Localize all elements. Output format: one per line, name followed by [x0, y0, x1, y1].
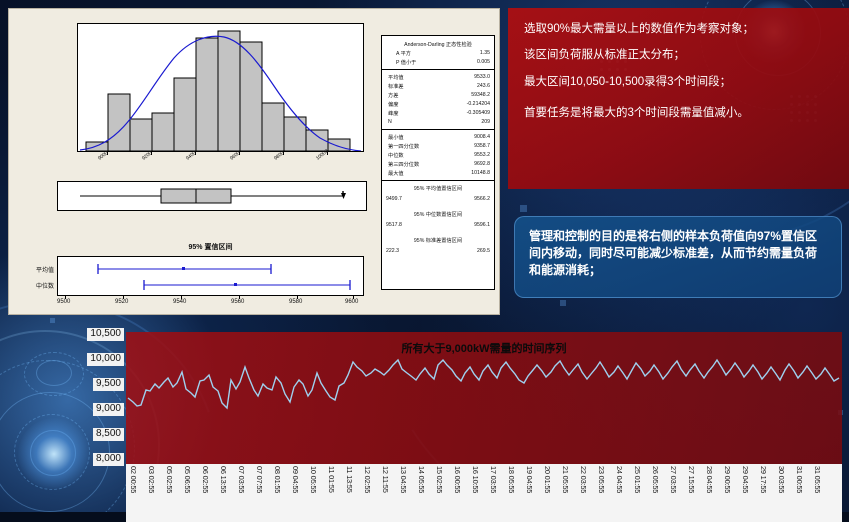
- decor-square: [520, 205, 527, 212]
- mean-value: 9533.0: [474, 74, 490, 80]
- ci-svg: [58, 257, 363, 295]
- ytick-label: 10,000: [87, 353, 124, 366]
- ci-xtick-label: 9600: [345, 299, 358, 305]
- xtick-label: 9000: [97, 150, 109, 162]
- xtick-label: 27 15:55: [687, 466, 696, 493]
- n-value: 209: [481, 119, 490, 125]
- histogram-xaxis: 9000 9200 9400 9600 9800 10000: [77, 152, 364, 174]
- ci-xtick-label: 9560: [231, 299, 244, 305]
- xtick-label: 05 02:55: [165, 466, 174, 493]
- xtick-label: 06 13:55: [219, 466, 228, 493]
- xtick-label: 05 06:55: [183, 466, 192, 493]
- xtick-label: 10 05:55: [309, 466, 318, 493]
- ytick-label: 8,000: [93, 453, 124, 466]
- ytick-label: 10,500: [87, 328, 124, 341]
- red-callout-line-4: 首要任务是将最大的3个时间段需量值减小。: [524, 106, 837, 120]
- ci-mean-title-text: 95% 平均值置信区间: [382, 185, 494, 192]
- xtick-label: 27 03:55: [669, 466, 678, 493]
- xtick-label: 12 11:55: [381, 466, 390, 493]
- ad-a2-label: A 平方: [396, 50, 411, 57]
- ad-a2-value: 1.35: [480, 50, 490, 56]
- ytick-label: 9,000: [93, 403, 124, 416]
- q1-label: 第一四分位数: [388, 143, 419, 150]
- ci-xtick-label: 9580: [289, 299, 302, 305]
- time-series-section: 10,500 10,000 9,500 9,000 8,500 8,000 所有…: [0, 322, 849, 512]
- xtick-label: 13 04:55: [399, 466, 408, 493]
- ci-mean-high: 9566.2: [474, 196, 490, 202]
- time-series-plot: 所有大于9,000kW需量的时间序列: [126, 332, 842, 464]
- kurtosis-value: -0.305409: [467, 110, 490, 116]
- ci-mean-low: 9499.7: [386, 196, 402, 202]
- boxplot-panel: [57, 181, 367, 211]
- confidence-interval-panel: [57, 256, 364, 296]
- variance-value: 59348.2: [471, 92, 490, 98]
- skewness-value: -0.214204: [467, 101, 490, 107]
- xtick-label: 9800: [273, 150, 285, 162]
- ci-panel-title: 95% 置信区间: [57, 242, 364, 252]
- box-q1-median: [161, 189, 196, 203]
- xtick-label: 20 01:55: [543, 466, 552, 493]
- max-label: 最大值: [388, 170, 404, 177]
- ad-p-value: 0.005: [477, 59, 490, 65]
- ad-p-label: P 值小于: [396, 59, 416, 66]
- stdev-label: 标准差: [388, 83, 404, 90]
- q1-value: 9358.7: [474, 143, 490, 149]
- minitab-report-card: 9000 9200 9400 9600 9800 10000 95% 置信区间: [8, 8, 500, 315]
- ci-stdev-low: 222.3: [386, 248, 399, 254]
- xtick-label: 23 05:55: [597, 466, 606, 493]
- red-callout-line-3: 最大区间10,050-10,500录得3个时间段；: [524, 75, 837, 89]
- ci-xtick-label: 9520: [115, 299, 128, 305]
- ci-median-low: 9517.8: [386, 222, 402, 228]
- median-label: 中位数: [388, 152, 404, 159]
- ytick-label: 8,500: [93, 428, 124, 441]
- histogram-svg: [78, 24, 363, 151]
- xtick-label: 31 00:55: [795, 466, 804, 493]
- variance-label: 方差: [388, 92, 398, 99]
- xtick-label: 18 05:55: [507, 466, 516, 493]
- xtick-label: 11 13:55: [345, 466, 354, 493]
- xtick-label: 30 03:55: [777, 466, 786, 493]
- xtick-label: 29 00:55: [723, 466, 732, 493]
- xtick-label: 11 01:55: [327, 466, 336, 493]
- xtick-label: 31 05:55: [813, 466, 822, 493]
- xtick-label: 14 05:55: [417, 466, 426, 493]
- time-series-xaxis: 02 00:55 03 02:55 05 02:55 05 06:55 06 0…: [126, 464, 842, 522]
- skewness-label: 偏度: [388, 101, 398, 108]
- xtick-label: 25 01:55: [633, 466, 642, 493]
- histogram-bars: [86, 31, 350, 151]
- ytick-label: 9,500: [93, 378, 124, 391]
- blue-callout-text: 管理和控制的目的是将右侧的样本负荷值向97%置信区间内移动，同时尽可能减少标准差…: [529, 228, 827, 279]
- xtick-label: 12 02:55: [363, 466, 372, 493]
- xtick-label: 24 04:55: [615, 466, 624, 493]
- ad-test-title-text: Anderson-Darling 正态性检验: [382, 41, 494, 48]
- ci-xtick-label: 9500: [57, 299, 70, 305]
- xtick-label: 16 00:55: [453, 466, 462, 493]
- kurtosis-label: 峰度: [388, 110, 398, 117]
- ci-xtick-label: 9540: [173, 299, 186, 305]
- xtick-label: 06 02:55: [201, 466, 210, 493]
- xtick-label: 19 04:55: [525, 466, 534, 493]
- blue-callout-box: 管理和控制的目的是将右侧的样本负荷值向97%置信区间内移动，同时尽可能减少标准差…: [514, 216, 842, 298]
- xtick-label: 17 03:55: [489, 466, 498, 493]
- xtick-label: 03 02:55: [147, 466, 156, 493]
- q3-value: 9692.8: [474, 161, 490, 167]
- xtick-label: 08 01:55: [273, 466, 282, 493]
- xtick-label: 02 00:55: [129, 466, 138, 493]
- divider: [382, 129, 494, 130]
- xtick-label: 09 04:55: [291, 466, 300, 493]
- time-series-yaxis: 10,500 10,000 9,500 9,000 8,500 8,000: [58, 332, 124, 464]
- xtick-label: 29 17:55: [759, 466, 768, 493]
- max-value: 10148.8: [471, 170, 490, 176]
- xtick-label: 07 03:55: [237, 466, 246, 493]
- red-callout-line-2: 该区间负荷服从标准正太分布；: [524, 48, 837, 62]
- stdev-value: 243.6: [477, 83, 490, 89]
- decor-square: [560, 300, 566, 306]
- divider: [382, 69, 494, 70]
- ci-xaxis: 9500 9520 9540 9560 9580 9600: [57, 296, 364, 310]
- time-series-line: [128, 360, 839, 408]
- xtick-label: 21 05:55: [561, 466, 570, 493]
- xtick-label: 9600: [229, 150, 241, 162]
- box-median-q3: [196, 189, 231, 203]
- ci-row-median: [144, 280, 350, 290]
- ci-row-mean: [98, 264, 271, 274]
- divider: [382, 180, 494, 181]
- q3-label: 第三四分位数: [388, 161, 419, 168]
- ci-stdev-title-text: 95% 标准差置信区间: [382, 237, 494, 244]
- xtick-label: 9400: [185, 150, 197, 162]
- xtick-label: 29 04:55: [741, 466, 750, 493]
- statistics-panel: Anderson-Darling 正态性检验 A 平方 1.35 P 值小于 0…: [381, 35, 495, 290]
- xtick-label: 07 07:55: [255, 466, 264, 493]
- boxplot-svg: [58, 182, 366, 210]
- ci-median-high: 9596.1: [474, 222, 490, 228]
- red-callout-box: 选取90%最大需量以上的数值作为考察对象； 该区间负荷服从标准正太分布； 最大区…: [508, 8, 849, 189]
- median-value: 9553.2: [474, 152, 490, 158]
- mean-label: 平均值: [388, 74, 404, 81]
- xtick-label: 9200: [141, 150, 153, 162]
- xtick-label: 22 03:55: [579, 466, 588, 493]
- xtick-label: 16 10:55: [471, 466, 480, 493]
- ci-stdev-high: 269.5: [477, 248, 490, 254]
- xtick-label: 15 02:55: [435, 466, 444, 493]
- ci-row-label-mean: 平均值: [17, 265, 54, 274]
- n-label: N: [388, 119, 392, 125]
- xtick-label: 26 05:55: [651, 466, 660, 493]
- histogram-panel: [77, 23, 364, 152]
- ci-row-label-median: 中位数: [17, 281, 54, 290]
- ci-median-title-text: 95% 中位数置信区间: [382, 211, 494, 218]
- time-series-title: 所有大于9,000kW需量的时间序列: [126, 340, 842, 356]
- min-label: 最小值: [388, 134, 404, 141]
- min-value: 9008.4: [474, 134, 490, 140]
- xtick-label: 28 04:55: [705, 466, 714, 493]
- red-callout-line-1: 选取90%最大需量以上的数值作为考察对象；: [524, 22, 837, 36]
